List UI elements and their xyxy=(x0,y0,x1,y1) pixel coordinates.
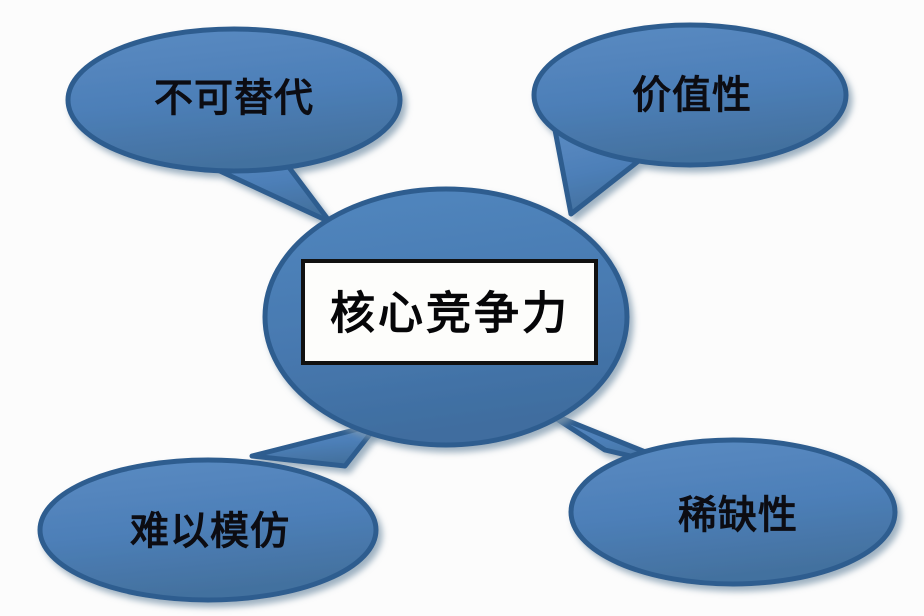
node-irreplaceable[interactable] xyxy=(68,29,400,222)
node-value[interactable] xyxy=(534,25,846,214)
core-competitiveness-diagram: 不可替代 价值性 难以模仿 稀缺性 核心竞争力 xyxy=(0,0,924,616)
node-scarcity-label: 稀缺性 xyxy=(678,494,798,539)
diagram-canvas: 不可替代 价值性 难以模仿 稀缺性 核心竞争力 xyxy=(0,0,924,616)
center-node-label: 核心竞争力 xyxy=(330,287,570,340)
node-hard-to-imitate-label: 难以模仿 xyxy=(130,510,290,555)
node-irreplaceable-label: 不可替代 xyxy=(154,77,314,122)
node-value-label: 价值性 xyxy=(632,74,752,119)
